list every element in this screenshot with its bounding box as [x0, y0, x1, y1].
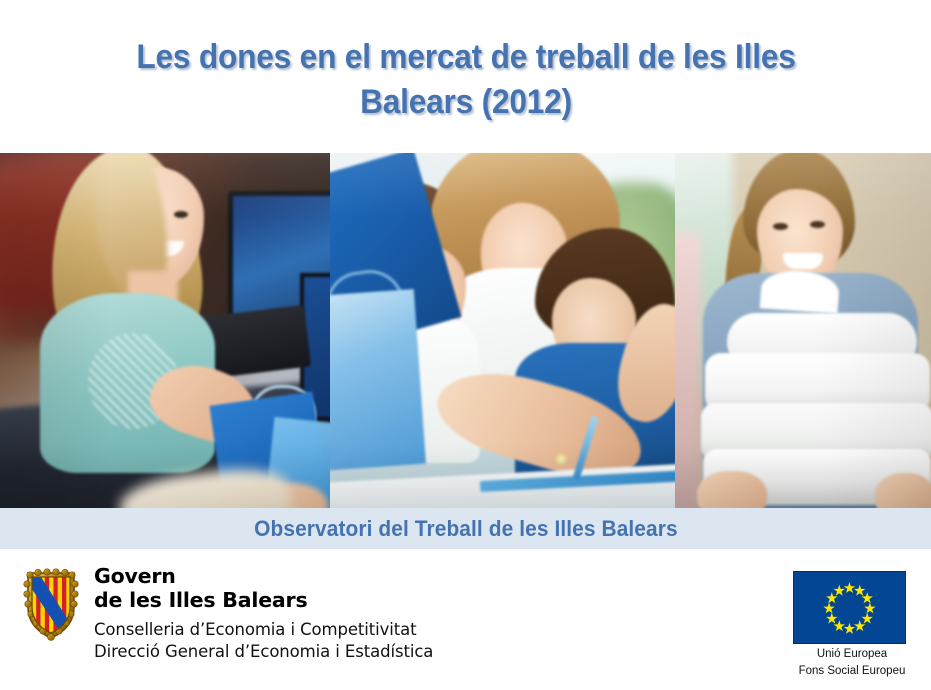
govern-subtitle-line1: Conselleria d’Economia i Competitivitat [94, 619, 433, 641]
slide-root: Les dones en el mercat de treball de les… [0, 0, 931, 690]
subtitle-text: Observatori del Treball de les Illes Bal… [254, 516, 678, 542]
govern-logo-block: Govern de les Illes Balears Conselleria … [20, 565, 433, 663]
photo-c-eye-right [810, 221, 825, 228]
title-zone: Les dones en el mercat de treball de les… [0, 0, 931, 153]
eu-caption-line1: Unió Europea [793, 647, 911, 661]
photo-mother-children-homework [330, 153, 675, 508]
photo-strip [0, 153, 931, 508]
photo-c-smile [783, 253, 823, 269]
subtitle-band: Observatori del Treball de les Illes Bal… [0, 508, 931, 549]
govern-text: Govern de les Illes Balears Conselleria … [94, 565, 433, 663]
govern-title-line2: de les Illes Balears [94, 589, 433, 613]
footer: Govern de les Illes Balears Conselleria … [0, 549, 931, 690]
eu-logo-block: Unió Europea Fons Social Europeu [793, 571, 911, 679]
govern-subtitle-line2: Direcció General d’Economia i Estadístic… [94, 641, 433, 663]
photo-c-left-blur [675, 233, 701, 508]
page-title: Les dones en el mercat de treball de les… [98, 35, 833, 125]
photo-housekeeper-towels [675, 153, 931, 508]
photo-c-eye-left [773, 223, 788, 230]
photo-retail-worker [0, 153, 330, 508]
photo-b-ring [555, 453, 567, 465]
govern-title-line1: Govern [94, 565, 433, 589]
photo-c-hand-left [697, 471, 767, 508]
eu-caption-line2: Fons Social Europeu [793, 664, 911, 678]
photo-a-eye-right [174, 211, 188, 218]
govern-shield-icon [20, 567, 82, 641]
photo-c-hand-right [875, 473, 931, 508]
eu-flag-icon [793, 571, 906, 644]
photo-b-blue-bag-light [330, 289, 426, 472]
